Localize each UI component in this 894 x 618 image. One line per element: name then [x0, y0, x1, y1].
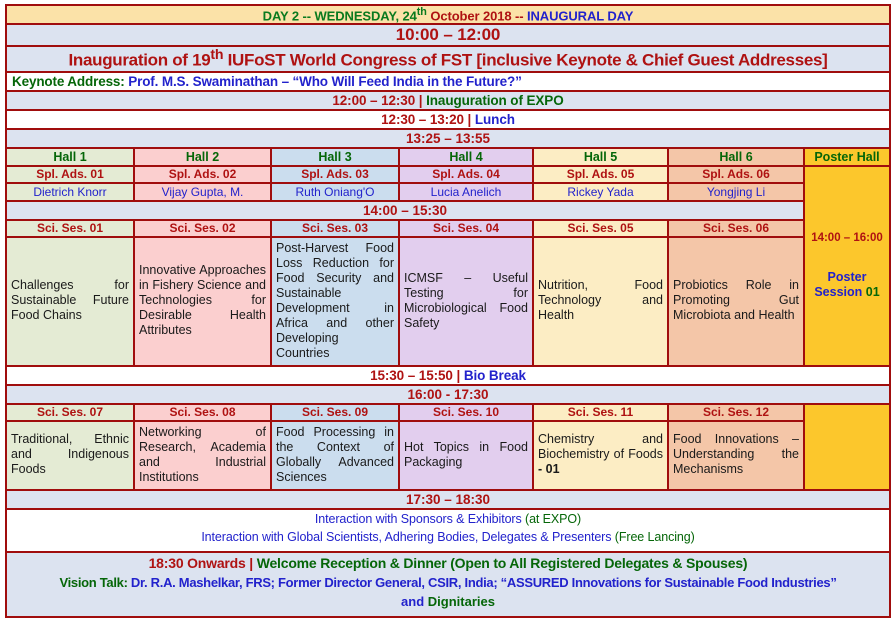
inauguration-title-row: Inauguration of 19th IUFoST World Congre…	[6, 46, 890, 72]
sci-session-title-3: Post-Harvest Food Loss Reduction for Foo…	[271, 237, 399, 366]
interaction-line-1-text: Interaction with Sponsors & Exhibitors	[315, 512, 525, 526]
spl-ads-time-cell: 13:25 – 13:55	[6, 129, 890, 148]
sci-sessions2-title-row: Traditional, Ethnic and Indigenous Foods…	[6, 421, 890, 490]
sci-session-code-12: Sci. Ses. 12	[668, 404, 804, 421]
welcome-line: 18:30 Onwards | Welcome Reception & Dinn…	[7, 555, 889, 575]
interaction-line-2: Interaction with Global Scientists, Adhe…	[7, 530, 889, 548]
spl-ads-code-5: Spl. Ads. 05	[533, 166, 668, 183]
interaction-line-2-text: Interaction with Global Scientists, Adhe…	[201, 530, 614, 544]
sci-session-title-12: Food Innovations – Understanding the Mec…	[668, 421, 804, 490]
sessions1-time-row: 14:00 – 15:30	[6, 201, 890, 220]
inauguration-title-b: IUFoST World Congress of FST [inclusive …	[223, 51, 827, 70]
interaction-cell: Interaction with Sponsors & Exhibitors (…	[6, 509, 890, 552]
hall-header-poster: Poster Hall	[804, 148, 890, 166]
interaction-line-1-note: (at EXPO)	[525, 512, 581, 526]
sci-session-code-11: Sci. Ses. 11	[533, 404, 668, 421]
sci-session-title-6: Probiotics Role in Promoting Gut Microbi…	[668, 237, 804, 366]
sci-sessions2-code-row: Sci. Ses. 07 Sci. Ses. 08 Sci. Ses. 09 S…	[6, 404, 890, 421]
schedule-table: DAY 2 -- WEDNESDAY, 24th October 2018 --…	[5, 4, 891, 618]
hall-header-6: Hall 6	[668, 148, 804, 166]
vision-line-2: and Dignitaries	[7, 594, 889, 613]
inauguration-title-sup: th	[210, 47, 223, 63]
spl-ads-code-3: Spl. Ads. 03	[271, 166, 399, 183]
poster-session-cell: 14:00 – 16:00 Poster Session 01	[804, 166, 890, 366]
day-header-row: DAY 2 -- WEDNESDAY, 24th October 2018 --…	[6, 5, 890, 24]
sci-session-title-11-text: Chemistry and Biochemistry of Foods	[538, 432, 663, 461]
interaction-row: Interaction with Sponsors & Exhibitors (…	[6, 509, 890, 552]
spl-ads-speaker-3: Ruth Oniang'O	[271, 183, 399, 201]
sci-session-code-5: Sci. Ses. 05	[533, 220, 668, 237]
spl-ads-code-row: Spl. Ads. 01 Spl. Ads. 02 Spl. Ads. 03 S…	[6, 166, 890, 183]
sci-session-title-9: Food Processing in the Context of Global…	[271, 421, 399, 490]
inauguration-title-a: Inauguration of 19	[68, 51, 210, 70]
keynote-text: Prof. M.S. Swaminathan – “Who Will Feed …	[125, 74, 522, 89]
sci-session-title-2: Innovative Approaches in Fishery Science…	[134, 237, 271, 366]
day-header-cell: DAY 2 -- WEDNESDAY, 24th October 2018 --…	[6, 5, 890, 24]
welcome-time: 18:30 Onwards |	[149, 555, 257, 571]
sci-session-code-2: Sci. Ses. 02	[134, 220, 271, 237]
hall-header-5: Hall 5	[533, 148, 668, 166]
expo-cell: 12:00 – 12:30 | Inauguration of EXPO	[6, 91, 890, 110]
inauguration-title-cell: Inauguration of 19th IUFoST World Congre…	[6, 46, 890, 72]
hall-header-3: Hall 3	[271, 148, 399, 166]
expo-time: 12:00 – 12:30 |	[332, 93, 426, 108]
hall-header-4: Hall 4	[399, 148, 533, 166]
sessions1-time-cell: 14:00 – 15:30	[6, 201, 804, 220]
lunch-time: 12:30 – 13:20 |	[381, 112, 475, 127]
day-header-suffix: INAUGURAL DAY	[527, 8, 633, 23]
vision-line-1: Vision Talk: Dr. R.A. Mashelkar, FRS; Fo…	[7, 575, 889, 594]
spl-ads-time-row: 13:25 – 13:55	[6, 129, 890, 148]
sci-session-title-11: Chemistry and Biochemistry of Foods - 01	[533, 421, 668, 490]
sci-session-code-8: Sci. Ses. 08	[134, 404, 271, 421]
bio-break-label: Bio Break	[464, 368, 526, 383]
sci-session-title-1: Challenges for Sustainable Future Food C…	[6, 237, 134, 366]
lunch-row: 12:30 – 13:20 | Lunch	[6, 110, 890, 129]
sci-session-title-5: Nutrition, Food Technology and Health	[533, 237, 668, 366]
vision-line-2-text: and	[401, 594, 428, 609]
sessions2-time-row: 16:00 - 17:30	[6, 385, 890, 404]
poster-session-filler	[804, 404, 890, 490]
keynote-row: Keynote Address: Prof. M.S. Swaminathan …	[6, 72, 890, 91]
inauguration-time-row: 10:00 – 12:00	[6, 24, 890, 46]
sci-session-code-4: Sci. Ses. 04	[399, 220, 533, 237]
spl-ads-speaker-5: Rickey Yada	[533, 183, 668, 201]
welcome-row: 18:30 Onwards | Welcome Reception & Dinn…	[6, 552, 890, 617]
sci-session-code-3: Sci. Ses. 03	[271, 220, 399, 237]
expo-row: 12:00 – 12:30 | Inauguration of EXPO	[6, 91, 890, 110]
welcome-cell: 18:30 Onwards | Welcome Reception & Dinn…	[6, 552, 890, 617]
sci-session-code-10: Sci. Ses. 10	[399, 404, 533, 421]
hall-header-2: Hall 2	[134, 148, 271, 166]
spl-ads-speaker-2: Vijay Gupta, M.	[134, 183, 271, 201]
vision-label: Vision Talk:	[59, 575, 127, 590]
keynote-label: Keynote Address:	[12, 74, 125, 89]
sci-session-code-9: Sci. Ses. 09	[271, 404, 399, 421]
poster-session-number: 01	[866, 285, 880, 299]
sci-session-code-6: Sci. Ses. 06	[668, 220, 804, 237]
poster-session-label-text: Poster Session	[814, 270, 866, 299]
sci-session-code-1: Sci. Ses. 01	[6, 220, 134, 237]
spl-ads-code-6: Spl. Ads. 06	[668, 166, 804, 183]
interaction-time-cell: 17:30 – 18:30	[6, 490, 890, 509]
spl-ads-speaker-row: Dietrich Knorr Vijay Gupta, M. Ruth Onia…	[6, 183, 890, 201]
bio-break-cell: 15:30 – 15:50 | Bio Break	[6, 366, 890, 385]
spl-ads-speaker-4: Lucia Anelich	[399, 183, 533, 201]
sci-session-title-11-suffix: - 01	[538, 462, 560, 476]
poster-session-label: Poster Session 01	[805, 270, 889, 300]
hall-header-row: Hall 1 Hall 2 Hall 3 Hall 4 Hall 5 Hall …	[6, 148, 890, 166]
hall-header-1: Hall 1	[6, 148, 134, 166]
sci-sessions1-title-row: Challenges for Sustainable Future Food C…	[6, 237, 890, 366]
sci-session-title-10: Hot Topics in Food Packaging	[399, 421, 533, 490]
spl-ads-code-2: Spl. Ads. 02	[134, 166, 271, 183]
schedule-page: DAY 2 -- WEDNESDAY, 24th October 2018 --…	[0, 0, 894, 527]
keynote-cell: Keynote Address: Prof. M.S. Swaminathan …	[6, 72, 890, 91]
poster-session-time: 14:00 – 16:00	[805, 232, 889, 244]
spl-ads-code-4: Spl. Ads. 04	[399, 166, 533, 183]
sci-session-title-7: Traditional, Ethnic and Indigenous Foods	[6, 421, 134, 490]
vision-line-2-note: Dignitaries	[428, 594, 495, 609]
sessions2-time-cell: 16:00 - 17:30	[6, 385, 890, 404]
bio-break-time: 15:30 – 15:50 |	[370, 368, 464, 383]
day-header-sup: th	[417, 6, 427, 18]
day-header-prefix: DAY 2 -- WEDNESDAY, 24	[263, 8, 417, 23]
welcome-label: Welcome Reception & Dinner (Open to All …	[257, 555, 748, 571]
inauguration-time-cell: 10:00 – 12:00	[6, 24, 890, 46]
spl-ads-speaker-6: Yongjing Li	[668, 183, 804, 201]
sci-session-title-8: Networking of Research, Academia and Ind…	[134, 421, 271, 490]
spl-ads-code-1: Spl. Ads. 01	[6, 166, 134, 183]
interaction-time-row: 17:30 – 18:30	[6, 490, 890, 509]
sci-session-code-7: Sci. Ses. 07	[6, 404, 134, 421]
lunch-cell: 12:30 – 13:20 | Lunch	[6, 110, 890, 129]
interaction-line-2-note: (Free Lancing)	[615, 530, 695, 544]
vision-text: Dr. R.A. Mashelkar, FRS; Former Director…	[128, 575, 837, 590]
bio-break-row: 15:30 – 15:50 | Bio Break	[6, 366, 890, 385]
lunch-label: Lunch	[475, 112, 515, 127]
day-header-mid: October 2018 --	[427, 8, 527, 23]
sci-session-title-4: ICMSF – Useful Testing for Microbiologic…	[399, 237, 533, 366]
interaction-line-1: Interaction with Sponsors & Exhibitors (…	[7, 512, 889, 530]
expo-label: Inauguration of EXPO	[426, 93, 564, 108]
sci-sessions1-code-row: Sci. Ses. 01 Sci. Ses. 02 Sci. Ses. 03 S…	[6, 220, 890, 237]
spl-ads-speaker-1: Dietrich Knorr	[6, 183, 134, 201]
